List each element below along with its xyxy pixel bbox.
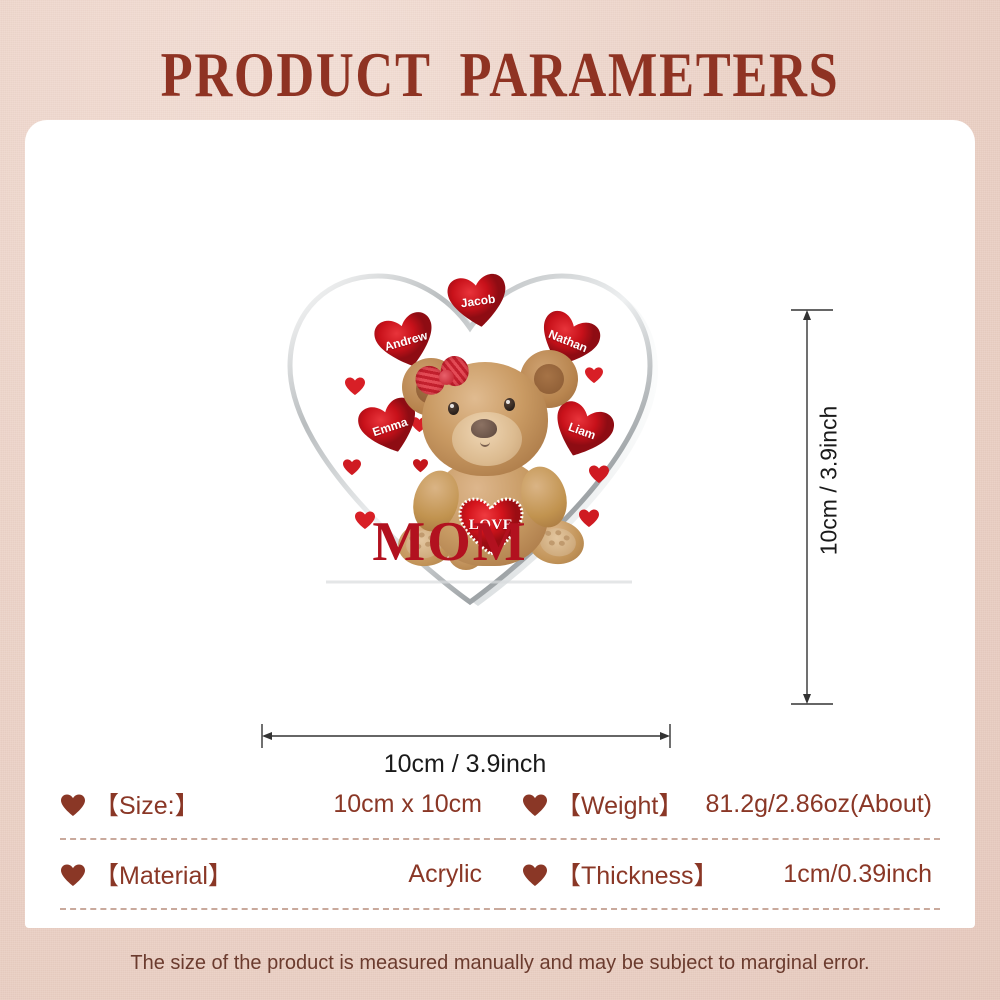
decorative-heart-icon xyxy=(344,376,366,401)
spec-value-size: 10cm x 10cm xyxy=(333,790,482,819)
spec-value-weight: 81.2g/2.86oz(About) xyxy=(705,790,932,819)
spec-key-material: 【Material】 xyxy=(94,856,233,892)
spec-value-material: Acrylic xyxy=(408,860,482,889)
spec-key-thickness: 【Thickness】 xyxy=(556,856,719,892)
name-heart-jacob: Jacob xyxy=(442,268,513,334)
heart-bullet-icon xyxy=(60,863,86,887)
heart-bullet-icon xyxy=(522,863,548,887)
bear-eye-left xyxy=(448,402,459,415)
spec-key-weight: 【Weight】 xyxy=(556,786,683,822)
dimension-horizontal-line xyxy=(250,722,680,752)
heart-bullet-icon xyxy=(522,793,548,817)
product-illustration: Jacob Andrew Nathan Emma Liam xyxy=(240,210,800,730)
personalized-name-text: MOM xyxy=(240,510,660,574)
bear-eye-right xyxy=(504,398,515,411)
spec-cell-weight: 【Weight】 81.2g/2.86oz(About) xyxy=(500,770,940,838)
spec-table: 【Size:】 10cm x 10cm 【Weight】 81.2g/2.86o… xyxy=(60,770,940,910)
page-title: PRODUCTPARAMETERS xyxy=(90,38,910,112)
spec-divider-left xyxy=(60,908,500,910)
content-card: Jacob Andrew Nathan Emma Liam xyxy=(25,120,975,928)
spec-row: 【Size:】 10cm x 10cm 【Weight】 81.2g/2.86o… xyxy=(60,770,940,838)
spec-value-thickness: 1cm/0.39inch xyxy=(783,860,932,889)
bear-nose xyxy=(471,419,497,438)
dimension-vertical: 10cm / 3.9inch xyxy=(785,307,855,707)
spec-divider-row xyxy=(60,908,940,910)
spec-cell-material: 【Material】 Acrylic xyxy=(60,840,500,908)
spec-divider-right xyxy=(500,908,940,910)
spec-cell-thickness: 【Thickness】 1cm/0.39inch xyxy=(500,840,940,908)
spec-key-size: 【Size:】 xyxy=(94,786,200,822)
footer-note: The size of the product is measured manu… xyxy=(0,952,1000,975)
dimension-vertical-label: 10cm / 3.9inch xyxy=(816,391,843,571)
decorative-heart-icon xyxy=(342,458,362,481)
spec-row: 【Material】 Acrylic 【Thickness】 1cm/0.39i… xyxy=(60,840,940,908)
heart-bullet-icon xyxy=(60,793,86,817)
spec-cell-size: 【Size:】 10cm x 10cm xyxy=(60,770,500,838)
